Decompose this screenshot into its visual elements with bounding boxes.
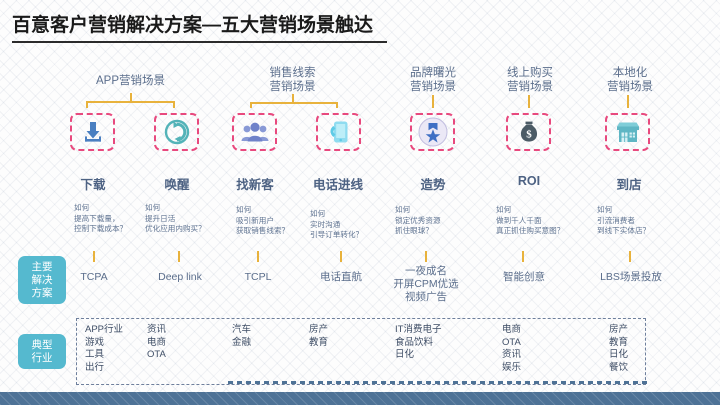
- sub-line: 提高下载量，: [74, 214, 127, 225]
- industry-column-momentum: IT消费电子 食品饮料 日化: [395, 324, 441, 362]
- industry-item: 游戏: [85, 337, 123, 350]
- solution-awaken: Deep link: [144, 271, 216, 284]
- badge-line: 行业: [32, 352, 53, 365]
- column-sub-visit-store: 如何 引流消费者 到线下实体店？: [597, 205, 650, 237]
- sub-line: 获取销售线索？: [236, 226, 289, 237]
- scene-header-app-marketing: APP营销场景: [63, 74, 198, 88]
- industry-item: OTA: [147, 349, 166, 362]
- industry-column-phone-inbound: 房产 教育: [309, 324, 328, 349]
- industry-item: 资讯: [502, 349, 521, 362]
- bottom-bar: [0, 392, 720, 405]
- badge-line: 典型: [32, 339, 53, 352]
- bracket-drop-app-right: [173, 101, 175, 108]
- sub-line: 做到千人千面: [496, 216, 564, 227]
- sub-line: 抓住眼球？: [395, 226, 441, 237]
- svg-text:$: $: [526, 128, 532, 140]
- industry-item: 资讯: [147, 324, 166, 337]
- industry-item: 食品饮料: [395, 337, 441, 350]
- industry-item: 餐饮: [609, 362, 628, 375]
- sub-line: 如何: [395, 205, 441, 216]
- column-label-awaken: 唤醒: [146, 174, 208, 193]
- bracket-drop-sales-left: [250, 102, 252, 108]
- title-underline: [12, 41, 387, 43]
- slide-canvas: 百意客户营销解决方案—五大营销场景触达 APP营销场景 销售线索 营销场景 品牌…: [0, 0, 720, 405]
- sub-line: 实时沟通: [310, 220, 363, 231]
- scene-header-line1: 本地化: [575, 66, 685, 80]
- sub-line: 如何: [236, 205, 289, 216]
- sub-line: 引流消费者: [597, 216, 650, 227]
- icon-tile-roi[interactable]: $: [506, 113, 551, 151]
- bracket-stem-local: [627, 95, 629, 108]
- solution-tick-phone-inbound: [340, 251, 342, 262]
- column-sub-new-customer: 如何 吸引新用户 获取销售线索？: [236, 205, 289, 237]
- storefront-icon: [614, 119, 642, 145]
- bracket-stem-brand: [432, 95, 434, 108]
- column-sub-download: 如何 提高下载量， 控制下载成本？: [74, 203, 127, 235]
- industry-item: 出行: [85, 362, 123, 375]
- icon-tile-momentum[interactable]: [410, 113, 455, 151]
- industry-item: 汽车: [232, 324, 251, 337]
- badge-line: 解决: [32, 274, 53, 287]
- solution-visit-store: LBS场景投放: [587, 271, 675, 284]
- bracket-drop-app-left: [86, 101, 88, 108]
- scene-header-line2: 营销场景: [378, 80, 488, 94]
- mobile-phone-icon: [327, 119, 351, 145]
- bracket-stem-app: [130, 93, 132, 101]
- solution-phone-inbound: 电话直航: [306, 271, 376, 284]
- title-area: 百意客户营销解决方案—五大营销场景触达: [12, 10, 712, 37]
- icon-tile-awaken[interactable]: [154, 113, 199, 151]
- sub-line: 如何: [310, 209, 363, 220]
- icon-tile-phone-inbound[interactable]: [316, 113, 361, 151]
- industry-column-new-customer: 汽车 金融: [232, 324, 251, 349]
- column-label-visit-store: 到店: [598, 174, 660, 193]
- solution-momentum: 一夜成名 开屏CPM优选 视频广告: [386, 265, 466, 304]
- industry-item: 电商: [147, 337, 166, 350]
- industry-column-visit-store: 房产 教育 日化 餐饮: [609, 324, 628, 374]
- money-bag-icon: $: [516, 119, 542, 145]
- industry-item: 金融: [232, 337, 251, 350]
- column-sub-roi: 如何 做到千人千面 真正抓住购买意图？: [496, 205, 564, 237]
- industry-item: 娱乐: [502, 362, 521, 375]
- sub-line: 引导订单转化？: [310, 230, 363, 241]
- scene-header-line2: 营销场景: [225, 80, 360, 94]
- bracket-rail-app: [86, 101, 175, 103]
- scene-header-line2: 营销场景: [475, 80, 585, 94]
- column-label-new-customer: 找新客: [216, 174, 294, 193]
- column-label-phone-inbound: 电话进线: [298, 174, 378, 193]
- scene-header-sales-lead: 销售线索 营销场景: [225, 66, 360, 94]
- industry-item: OTA: [502, 337, 521, 350]
- column-label-roi: ROI: [498, 174, 560, 188]
- scene-header-brand-exposure: 品牌曙光 营销场景: [378, 66, 488, 94]
- solution-line: Deep link: [144, 271, 216, 284]
- side-badge-industry: 典型 行业: [18, 334, 66, 369]
- solution-new-customer: TCPL: [227, 271, 289, 284]
- scene-header-localization: 本地化 营销场景: [575, 66, 685, 94]
- sub-line: 到线下实体店？: [597, 226, 650, 237]
- solution-line: LBS场景投放: [587, 271, 675, 284]
- icon-tile-visit-store[interactable]: [605, 113, 650, 151]
- industry-item: 电商: [502, 324, 521, 337]
- refresh-cycle-icon: [164, 119, 190, 145]
- industry-item: 工具: [85, 349, 123, 362]
- column-label-momentum: 造势: [402, 174, 464, 193]
- sub-line: 提升日活: [145, 214, 206, 225]
- badge-line: 方案: [32, 287, 53, 300]
- solution-tick-new-customer: [257, 251, 259, 262]
- industry-item: 房产: [309, 324, 328, 337]
- solution-line: TCPL: [227, 271, 289, 284]
- solution-line: 一夜成名: [386, 265, 466, 278]
- sub-line: 如何: [74, 203, 127, 214]
- bracket-stem-online: [528, 95, 530, 108]
- industry-column-download: APP行业 游戏 工具 出行: [85, 324, 123, 374]
- sub-line: 真正抓住购买意图？: [496, 226, 564, 237]
- sub-line: 如何: [496, 205, 564, 216]
- column-label-download: 下载: [62, 174, 124, 193]
- icon-tile-download[interactable]: [70, 113, 115, 151]
- side-badge-solution: 主要 解决 方案: [18, 256, 66, 304]
- industry-item: 日化: [395, 349, 441, 362]
- page-title: 百意客户营销解决方案—五大营销场景触达: [12, 10, 712, 37]
- solution-line: 视频广告: [386, 291, 466, 304]
- solution-tick-roi: [522, 251, 524, 262]
- sub-line: 优化应用内购买？: [145, 224, 206, 235]
- solution-roi: 智能创意: [489, 271, 559, 284]
- scene-header-line1: 线上购买: [475, 66, 585, 80]
- bracket-drop-sales-right: [336, 102, 338, 108]
- sub-line: 吸引新用户: [236, 216, 289, 227]
- solution-line: 电话直航: [306, 271, 376, 284]
- industry-item: APP行业: [85, 324, 123, 337]
- industry-item: 教育: [609, 337, 628, 350]
- column-sub-phone-inbound: 如何 实时沟通 引导订单转化？: [310, 209, 363, 241]
- industry-item: 日化: [609, 349, 628, 362]
- icon-tile-new-customer[interactable]: [232, 113, 277, 151]
- industry-column-roi: 电商 OTA 资讯 娱乐: [502, 324, 521, 374]
- sub-line: 控制下载成本？: [74, 224, 127, 235]
- solution-line: 开屏CPM优选: [386, 278, 466, 291]
- industry-item: 房产: [609, 324, 628, 337]
- star-badge-icon: [416, 115, 450, 149]
- bottom-dashed-rule: [228, 381, 648, 384]
- solution-tick-awaken: [178, 251, 180, 262]
- scene-header-line1: 销售线索: [225, 66, 360, 80]
- solution-line: 智能创意: [489, 271, 559, 284]
- bracket-rail-sales: [250, 102, 338, 104]
- solution-download: TCPA: [63, 271, 125, 284]
- solution-tick-download: [93, 251, 95, 262]
- bracket-stem-sales: [292, 94, 294, 102]
- industry-column-awaken: 资讯 电商 OTA: [147, 324, 166, 362]
- sub-line: 如何: [597, 205, 650, 216]
- column-sub-momentum: 如何 锁定优秀资源 抓住眼球？: [395, 205, 441, 237]
- column-sub-awaken: 如何 提升日活 优化应用内购买？: [145, 203, 206, 235]
- industry-box: APP行业 游戏 工具 出行 资讯 电商 OTA 汽车 金融 房产 教育 IT消…: [76, 318, 646, 385]
- people-group-icon: [241, 120, 269, 144]
- solution-tick-visit-store: [629, 251, 631, 262]
- solution-tick-momentum: [425, 251, 427, 262]
- industry-item: IT消费电子: [395, 324, 441, 337]
- sub-line: 锁定优秀资源: [395, 216, 441, 227]
- scene-header-line1: 品牌曙光: [378, 66, 488, 80]
- solution-line: TCPA: [63, 271, 125, 284]
- scene-header-line1: APP营销场景: [63, 74, 198, 88]
- industry-item: 教育: [309, 337, 328, 350]
- badge-line: 主要: [32, 261, 53, 274]
- scene-header-line2: 营销场景: [575, 80, 685, 94]
- scene-header-online-purchase: 线上购买 营销场景: [475, 66, 585, 94]
- download-icon: [80, 119, 106, 145]
- sub-line: 如何: [145, 203, 206, 214]
